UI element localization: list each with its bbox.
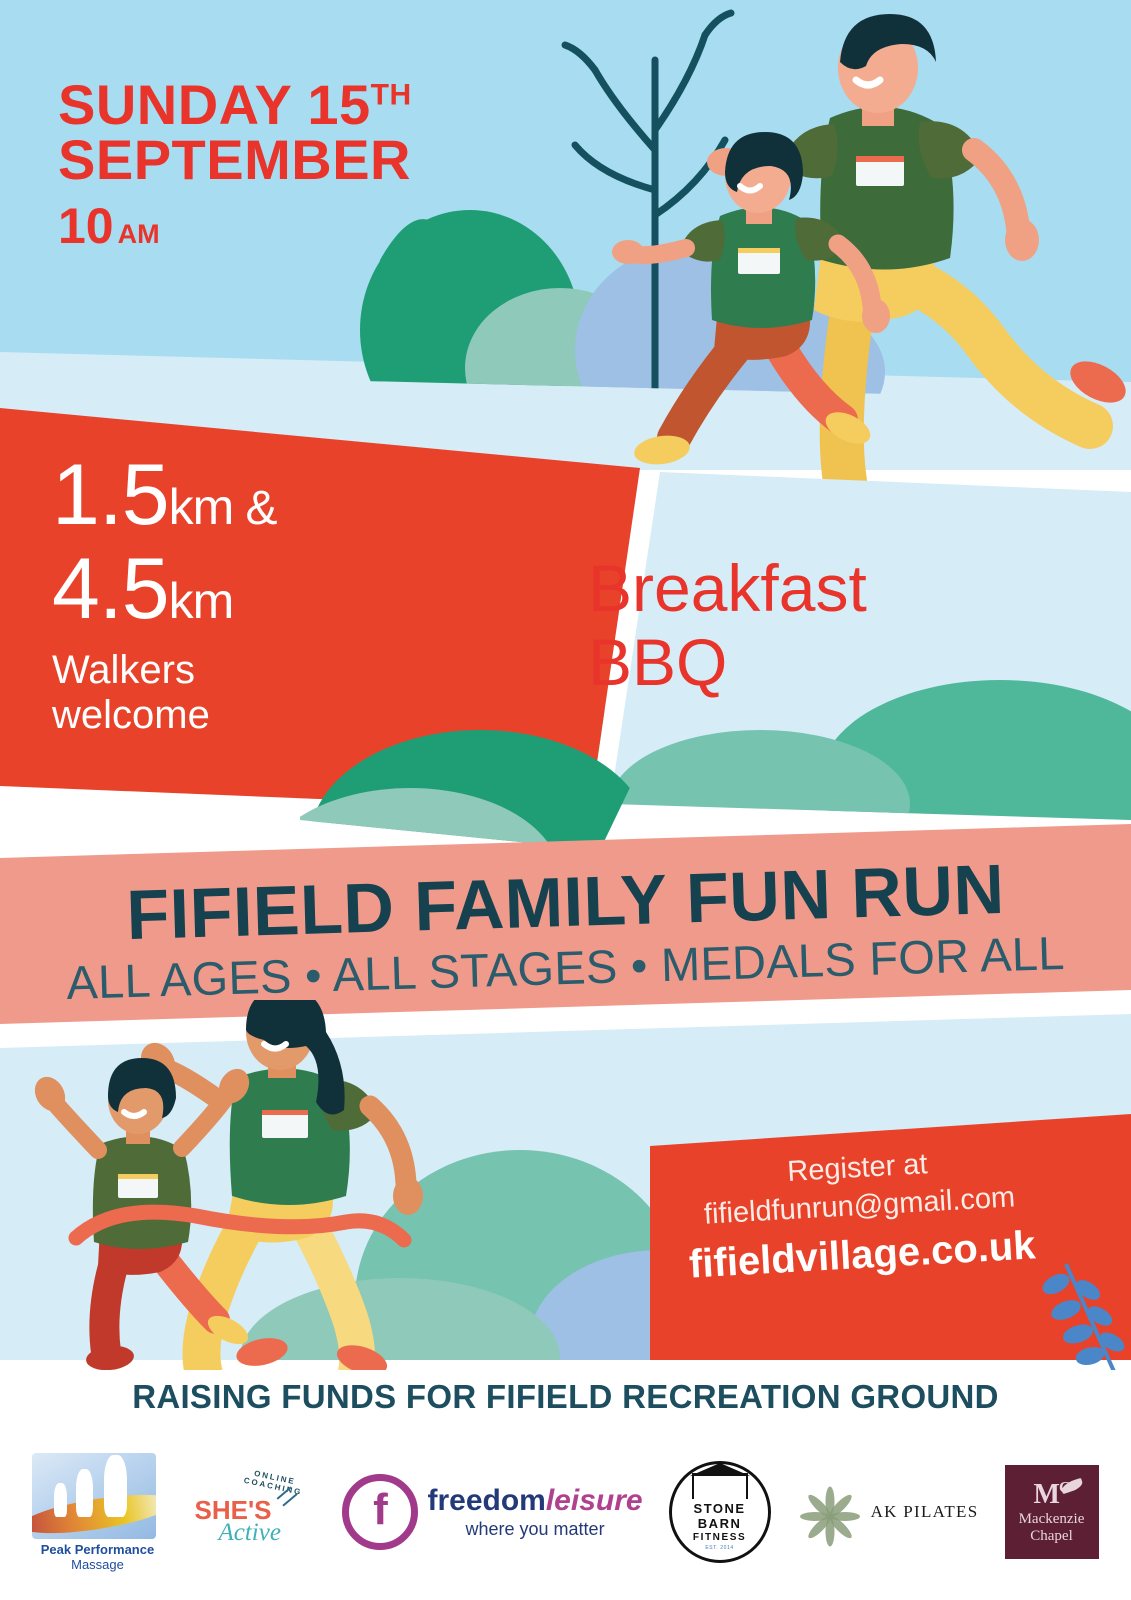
peak-performance-line2: Massage xyxy=(32,1557,162,1572)
sponsor-shes-active[interactable]: ONLINE COACHING SHE'S Active xyxy=(188,1467,316,1557)
leisure-word: leisure xyxy=(546,1484,643,1517)
date-day: SUNDAY 15TH xyxy=(58,78,412,133)
distance-block: 1.5km & 4.5km Walkers welcome xyxy=(52,452,277,738)
distance-long-unit: km xyxy=(169,573,234,629)
shes-active-word2: Active xyxy=(218,1519,280,1547)
peak-performance-line1: Peak Performance xyxy=(32,1542,162,1557)
breakfast-bbq-block: Breakfast BBQ xyxy=(588,552,867,700)
mackenzie-name-line1: Mackenzie xyxy=(1019,1511,1085,1528)
freedom-leisure-tagline: where you matter xyxy=(427,1519,642,1540)
sponsor-mackenzie-chapel[interactable]: MC Mackenzie Chapel xyxy=(1005,1465,1099,1559)
sponsor-stone-barn-fitness[interactable]: STONE BARN FITNESS EST. 2014 xyxy=(669,1461,771,1563)
stone-barn-line2: BARN xyxy=(698,1517,742,1532)
stone-barn-line1: STONE xyxy=(694,1502,746,1517)
fundraising-statement: RAISING FUNDS FOR FIFIELD RECREATION GRO… xyxy=(0,1378,1131,1416)
breakfast-line2: BBQ xyxy=(588,626,867,700)
distance-long: 4.5km xyxy=(52,546,277,632)
time-ampm: AM xyxy=(118,219,160,249)
barn-icon xyxy=(692,1473,748,1499)
fern-leaf-icon xyxy=(1030,1250,1131,1380)
runners-illustration-bottom xyxy=(30,1000,450,1370)
event-time: 10AM xyxy=(58,202,412,251)
freedom-leisure-wordmark: freedomleisure xyxy=(427,1484,642,1519)
event-date-block: SUNDAY 15TH SEPTEMBER 10AM xyxy=(58,78,412,251)
stone-barn-line3: FITNESS xyxy=(693,1532,746,1543)
breakfast-line1: Breakfast xyxy=(588,552,867,626)
sponsor-freedom-leisure[interactable]: f freedomleisure where you matter xyxy=(342,1474,642,1550)
distance-short: 1.5km & xyxy=(52,452,277,538)
walkers-welcome-note: Walkers welcome xyxy=(52,648,277,738)
poster: SUNDAY 15TH SEPTEMBER 10AM 1.5km & 4.5km… xyxy=(0,0,1131,1600)
peak-performance-logo-icon xyxy=(32,1453,156,1539)
registration-block: Register at fifieldfunrun@gmail.com fifi… xyxy=(657,1139,1064,1290)
sponsor-peak-performance-massage[interactable]: Peak Performance Massage xyxy=(32,1453,162,1572)
freedom-word: freedom xyxy=(427,1484,545,1517)
sponsor-ak-pilates[interactable]: AK PILATES xyxy=(797,1479,979,1545)
sponsor-logo-row: Peak Performance Massage ONLINE COACHING… xyxy=(0,1432,1131,1592)
distance-short-unit: km xyxy=(169,479,234,535)
distance-ampersand: & xyxy=(233,482,276,535)
date-month: SEPTEMBER xyxy=(58,133,412,188)
freedom-leisure-f-icon: f xyxy=(342,1474,418,1550)
mackenzie-name-line2: Chapel xyxy=(1030,1528,1073,1545)
ak-pilates-label: AK PILATES xyxy=(871,1502,979,1522)
date-ordinal-suffix: TH xyxy=(371,78,412,111)
stone-barn-established: EST. 2014 xyxy=(705,1545,733,1551)
ak-pilates-ornament-icon xyxy=(797,1479,863,1545)
